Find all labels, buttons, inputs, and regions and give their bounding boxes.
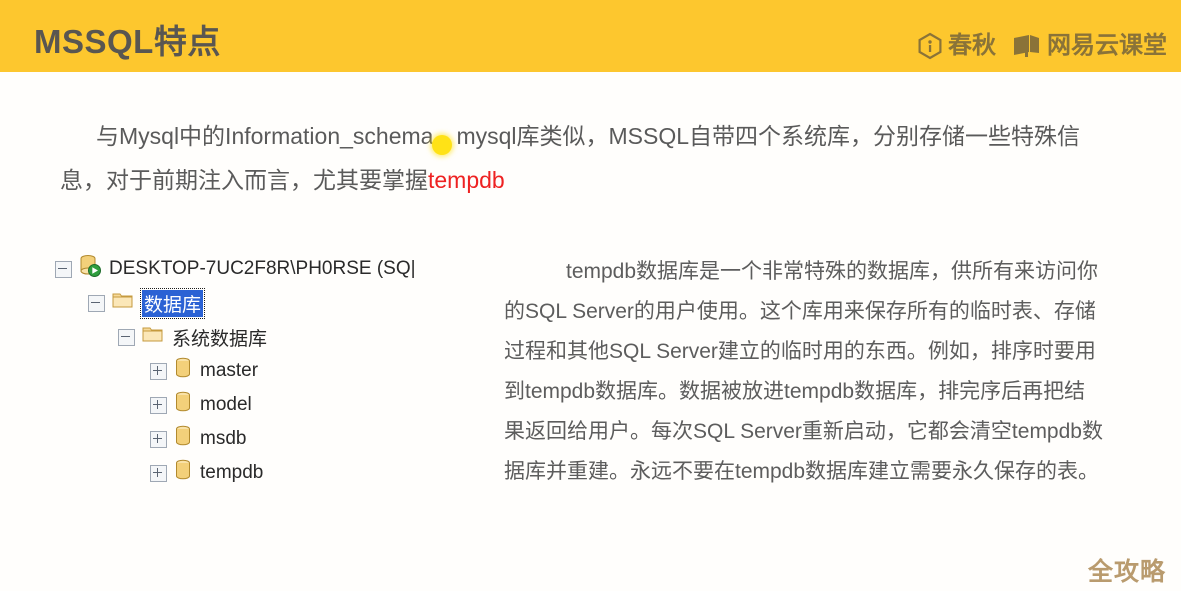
database-cylinder-icon	[174, 391, 192, 419]
expander-minus-icon[interactable]	[118, 329, 135, 346]
tree-node-master[interactable]: master	[55, 354, 475, 388]
brand-logo-group: 春秋 网易云课堂	[917, 32, 1167, 60]
tree-node-server-label: DESKTOP-7UC2F8R\PH0RSE (SQ|	[109, 258, 416, 280]
tree-node-master-label: master	[200, 360, 258, 382]
tree-node-databases[interactable]: 数据库	[55, 286, 475, 320]
tempdb-description-paragraph: tempdb数据库是一个非常特殊的数据库，供所有来访问你的SQL Server的…	[504, 252, 1104, 492]
expander-plus-icon[interactable]	[150, 431, 167, 448]
hexagon-i-icon	[917, 32, 943, 60]
folder-icon	[142, 324, 164, 350]
tree-node-system-databases-label: 系统数据库	[172, 324, 267, 351]
page-title: MSSQL特点	[34, 15, 221, 63]
intro-text: 与Mysql中的Information_schema、mysql库类似，MSSQ…	[60, 123, 1080, 193]
tree-node-msdb[interactable]: msdb	[55, 422, 475, 456]
brand-netease-cloud-classroom: 网易云课堂	[1012, 32, 1167, 60]
database-cylinder-icon	[174, 425, 192, 453]
slide-canvas: MSSQL特点 春秋	[0, 0, 1181, 591]
tree-node-model[interactable]: model	[55, 388, 475, 422]
tree-node-model-label: model	[200, 394, 252, 416]
brand-ichunqiu-label: 春秋	[948, 34, 996, 58]
expander-plus-icon[interactable]	[150, 465, 167, 482]
server-database-icon	[79, 254, 101, 284]
cursor-highlight-dot	[432, 135, 452, 155]
expander-plus-icon[interactable]	[150, 363, 167, 380]
intro-highlight-tempdb: tempdb	[428, 167, 505, 193]
tree-node-server[interactable]: DESKTOP-7UC2F8R\PH0RSE (SQ|	[55, 252, 475, 286]
header-banner: MSSQL特点 春秋	[0, 0, 1181, 72]
tree-node-tempdb[interactable]: tempdb	[55, 456, 475, 490]
database-cylinder-icon	[174, 357, 192, 385]
brand-netease-label: 网易云课堂	[1047, 34, 1167, 58]
object-explorer-tree: DESKTOP-7UC2F8R\PH0RSE (SQ| 数据库 系统数据库	[55, 252, 475, 490]
book-icon	[1012, 32, 1042, 60]
watermark: 全攻略	[1088, 552, 1166, 588]
intro-paragraph: 与Mysql中的Information_schema、mysql库类似，MSSQ…	[60, 114, 1120, 202]
database-cylinder-icon	[174, 459, 192, 487]
expander-minus-icon[interactable]	[55, 261, 72, 278]
tree-node-databases-label: 数据库	[142, 290, 203, 317]
tree-node-msdb-label: msdb	[200, 428, 246, 450]
tree-node-system-databases[interactable]: 系统数据库	[55, 320, 475, 354]
folder-icon	[112, 290, 134, 316]
brand-ichunqiu: 春秋	[917, 32, 996, 60]
expander-plus-icon[interactable]	[150, 397, 167, 414]
expander-minus-icon[interactable]	[88, 295, 105, 312]
tree-node-tempdb-label: tempdb	[200, 462, 263, 484]
